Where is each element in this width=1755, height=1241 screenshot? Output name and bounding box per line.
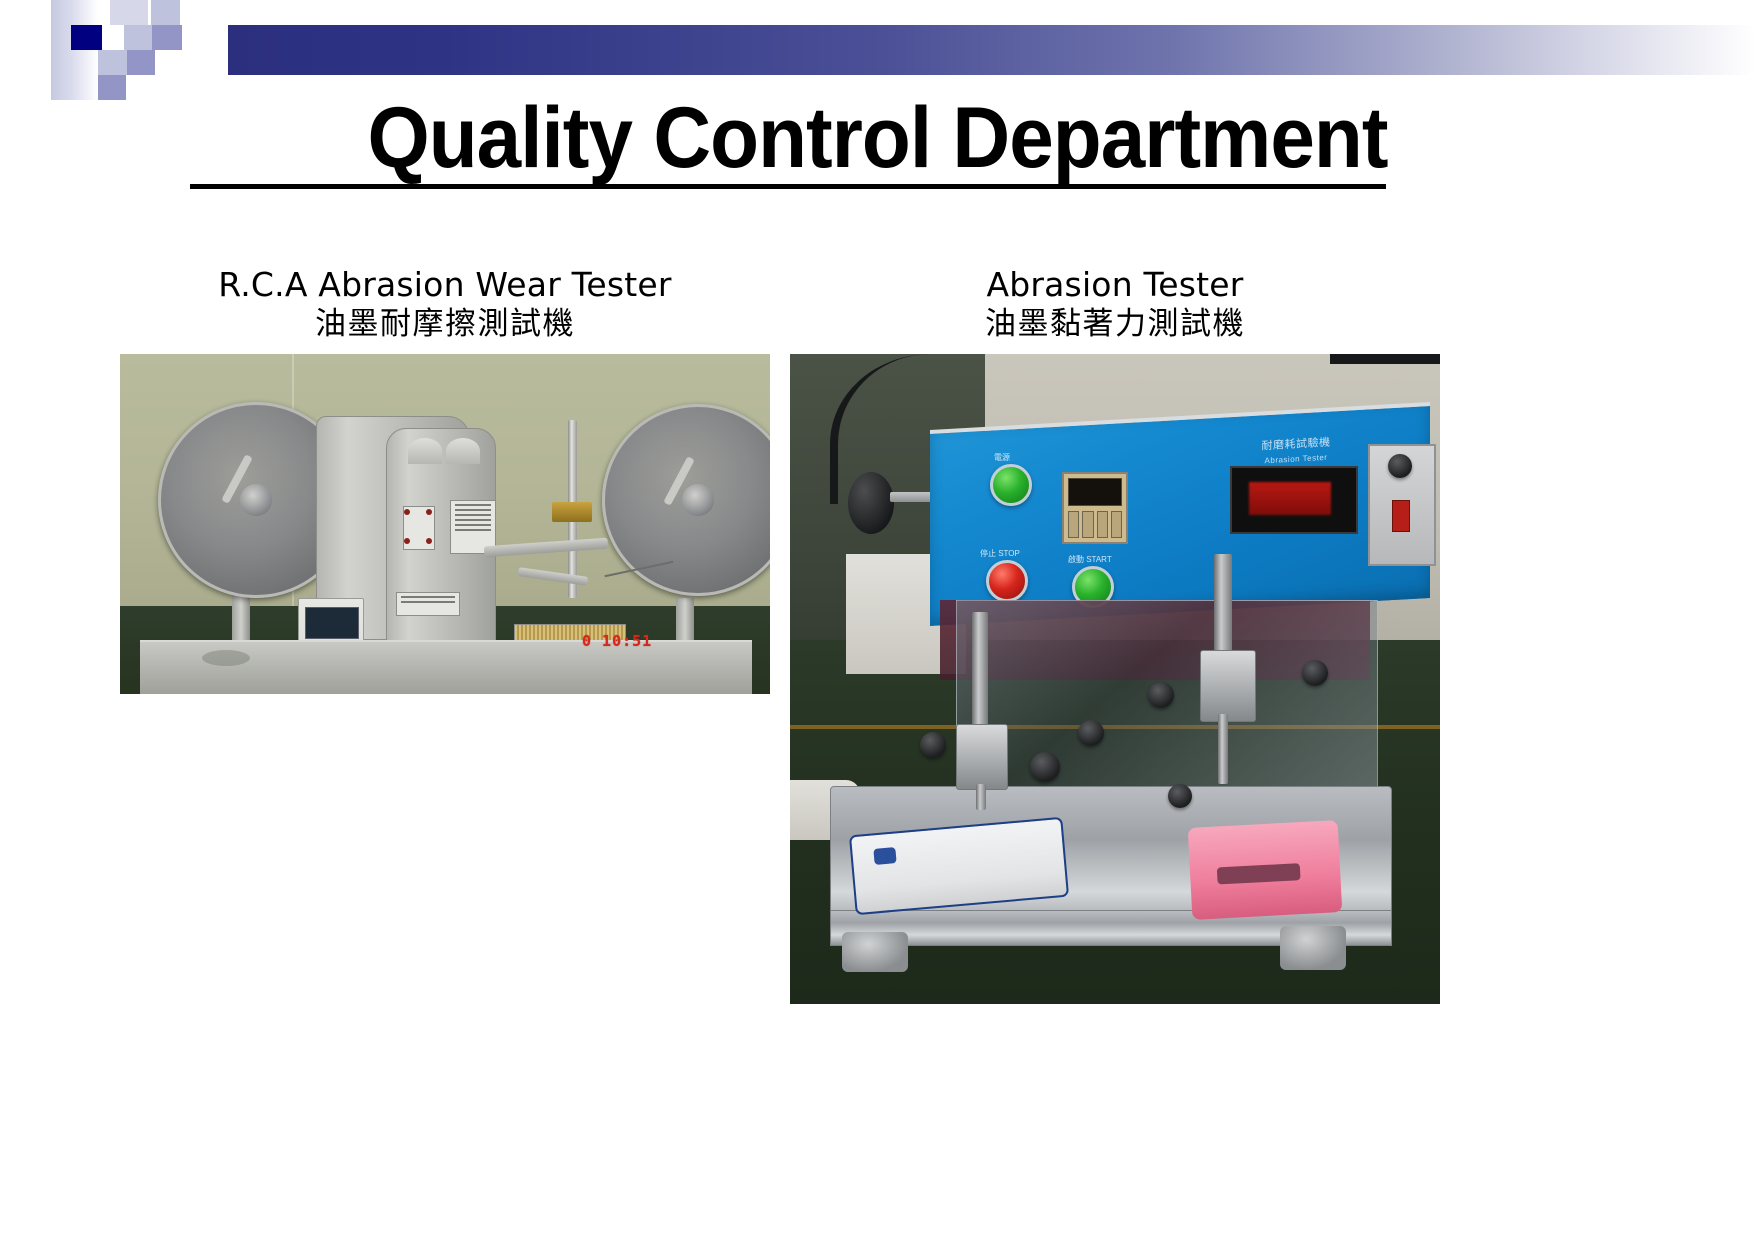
left-disc-spoke	[221, 454, 252, 504]
timer-key[interactable]	[1082, 511, 1093, 538]
photo-abrasion-tester: 耐磨耗試驗機 Abrasion Tester Model 110 電源 停止 S…	[790, 354, 1440, 1004]
brass-clamp	[552, 502, 592, 522]
banner-square-mid-a	[152, 25, 182, 50]
machine-foot-left	[842, 932, 908, 972]
timer-display-window	[1068, 478, 1122, 506]
digital-timer[interactable]	[1062, 472, 1128, 544]
machine-foot-right	[1280, 926, 1346, 970]
machine-switch-dot-a	[404, 509, 410, 515]
machine-instruction-label	[396, 592, 460, 616]
clamp-knob-e[interactable]	[1302, 660, 1328, 686]
rub-head-collar-right	[1200, 650, 1256, 722]
caption-zh-rca: 油墨耐摩擦測試機	[120, 305, 770, 343]
caption-zh-abrasion: 油墨黏著力測試機	[790, 305, 1440, 343]
machine-switch-dot-b	[426, 509, 432, 515]
page-title: Quality Control Department	[61, 95, 1693, 181]
panel-rca-abrasion-wear-tester: R.C.A Abrasion Wear Tester 油墨耐摩擦測試機	[120, 265, 770, 694]
decorative-header-banner	[0, 0, 1755, 100]
rub-tip-left	[976, 784, 986, 810]
banner-square-mid-b	[127, 50, 155, 75]
banner-gradient-bar	[228, 25, 1755, 75]
rub-head-collar-left	[956, 724, 1008, 790]
caption-en-abrasion: Abrasion Tester	[790, 265, 1440, 305]
start-button-label: 啟動 START	[1068, 554, 1112, 565]
left-disc-stand	[232, 590, 250, 646]
sample-pink-detail	[1217, 864, 1300, 885]
sample-white-detail	[873, 847, 896, 865]
banner-square-light-b	[98, 50, 127, 75]
caption-rca-abrasion-wear-tester: R.C.A Abrasion Wear Tester 油墨耐摩擦測試機	[120, 265, 770, 343]
banner-square-pale-upper	[110, 0, 148, 25]
machine-roller-left	[408, 438, 442, 464]
controller-screen	[305, 607, 359, 639]
stop-button[interactable]	[986, 560, 1028, 602]
clamp-knob-a[interactable]	[920, 732, 946, 758]
clamp-knob-b[interactable]	[1030, 752, 1060, 782]
banner-gradient-column	[51, 0, 98, 100]
base-oval-marking	[202, 650, 250, 666]
banner-square-navy	[71, 25, 102, 50]
machine-base-plate	[140, 640, 752, 694]
hand-wheel[interactable]	[848, 472, 894, 534]
led-counter-glow	[1249, 482, 1331, 515]
banner-square-pale-top	[151, 0, 180, 25]
timer-key[interactable]	[1097, 511, 1108, 538]
power-indicator-light[interactable]	[990, 464, 1032, 506]
page-title-underline	[190, 184, 1386, 189]
power-indicator-label: 電源	[994, 452, 1010, 463]
right-disc-spoke	[663, 456, 694, 506]
machine-roller-right	[446, 438, 480, 464]
clamp-knob-f[interactable]	[1168, 784, 1192, 808]
timer-key[interactable]	[1111, 511, 1122, 538]
timer-key[interactable]	[1068, 511, 1079, 538]
machine-switch-dot-d	[426, 538, 432, 544]
panel-abrasion-tester: Abrasion Tester 油墨黏著力測試機 耐磨耗試驗機 Abrasion…	[790, 265, 1440, 1004]
caption-abrasion-tester: Abrasion Tester 油墨黏著力測試機	[790, 265, 1440, 343]
photo-rca-abrasion-wear-tester: 0 10:51	[120, 354, 770, 694]
led-counter-display	[1230, 466, 1358, 534]
rub-head-shaft-left	[972, 612, 988, 732]
photo-timestamp-stamp: 0 10:51	[582, 632, 652, 650]
selector-knob[interactable]	[1388, 454, 1412, 478]
machine-switch-dot-c	[404, 538, 410, 544]
toggle-switch[interactable]	[1392, 500, 1410, 532]
power-cable-top	[1330, 354, 1440, 406]
clamp-knob-c[interactable]	[1078, 720, 1104, 746]
banner-square-light-a	[124, 25, 152, 50]
stop-button-label: 停止 STOP	[980, 548, 1020, 559]
clamp-knob-d[interactable]	[1148, 682, 1174, 708]
timer-keypad[interactable]	[1068, 511, 1122, 538]
sample-pink-housing	[1188, 820, 1343, 920]
caption-en-rca: R.C.A Abrasion Wear Tester	[120, 265, 770, 305]
rub-tip-right	[1218, 714, 1228, 784]
